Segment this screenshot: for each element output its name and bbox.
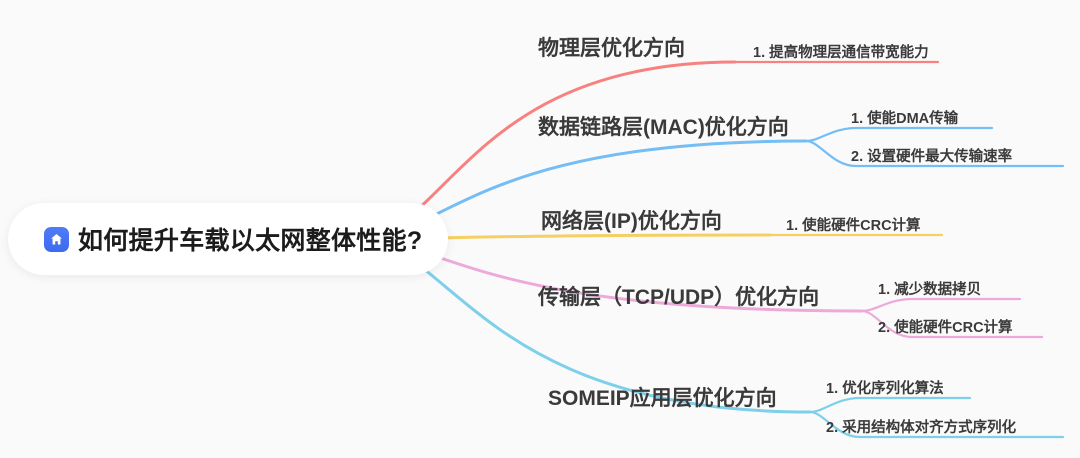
subbranch-line-data-link-layer-mac-1 bbox=[806, 128, 992, 141]
subitem-label-data-link-layer-mac-1[interactable]: 1. 使能DMA传输 bbox=[851, 107, 958, 128]
subitem-label-network-layer-ip-1[interactable]: 1. 使能硬件CRC计算 bbox=[786, 214, 921, 235]
subitem-label-someip-application-layer-1[interactable]: 1. 优化序列化算法 bbox=[826, 377, 944, 398]
subitem-label-data-link-layer-mac-2[interactable]: 2. 设置硬件最大传输速率 bbox=[851, 145, 1012, 166]
root-node[interactable]: 如何提升车载以太网整体性能? bbox=[8, 203, 448, 275]
root-label: 如何提升车载以太网整体性能? bbox=[78, 221, 422, 257]
subitem-label-physical-layer-1[interactable]: 1. 提高物理层通信带宽能力 bbox=[753, 41, 929, 62]
topic-label-someip-application-layer[interactable]: SOMEIP应用层优化方向 bbox=[548, 382, 777, 412]
topic-label-physical-layer[interactable]: 物理层优化方向 bbox=[538, 32, 685, 62]
topic-label-data-link-layer-mac[interactable]: 数据链路层(MAC)优化方向 bbox=[538, 111, 789, 141]
subitem-label-transport-layer-tcp-udp-1[interactable]: 1. 减少数据拷贝 bbox=[878, 278, 981, 299]
mindmap-canvas: 如何提升车载以太网整体性能? 物理层优化方向1. 提高物理层通信带宽能力数据链路… bbox=[0, 0, 1080, 458]
subitem-label-transport-layer-tcp-udp-2[interactable]: 2. 使能硬件CRC计算 bbox=[878, 316, 1013, 337]
subbranch-line-someip-application-layer-1 bbox=[810, 398, 970, 412]
subitem-label-someip-application-layer-2[interactable]: 2. 采用结构体对齐方式序列化 bbox=[826, 416, 1016, 437]
topic-label-network-layer-ip[interactable]: 网络层(IP)优化方向 bbox=[541, 205, 722, 235]
subbranch-line-transport-layer-tcp-udp-1 bbox=[862, 299, 1020, 311]
house-icon bbox=[44, 227, 69, 252]
topic-label-transport-layer-tcp-udp[interactable]: 传输层（TCP/UDP）优化方向 bbox=[538, 281, 819, 311]
